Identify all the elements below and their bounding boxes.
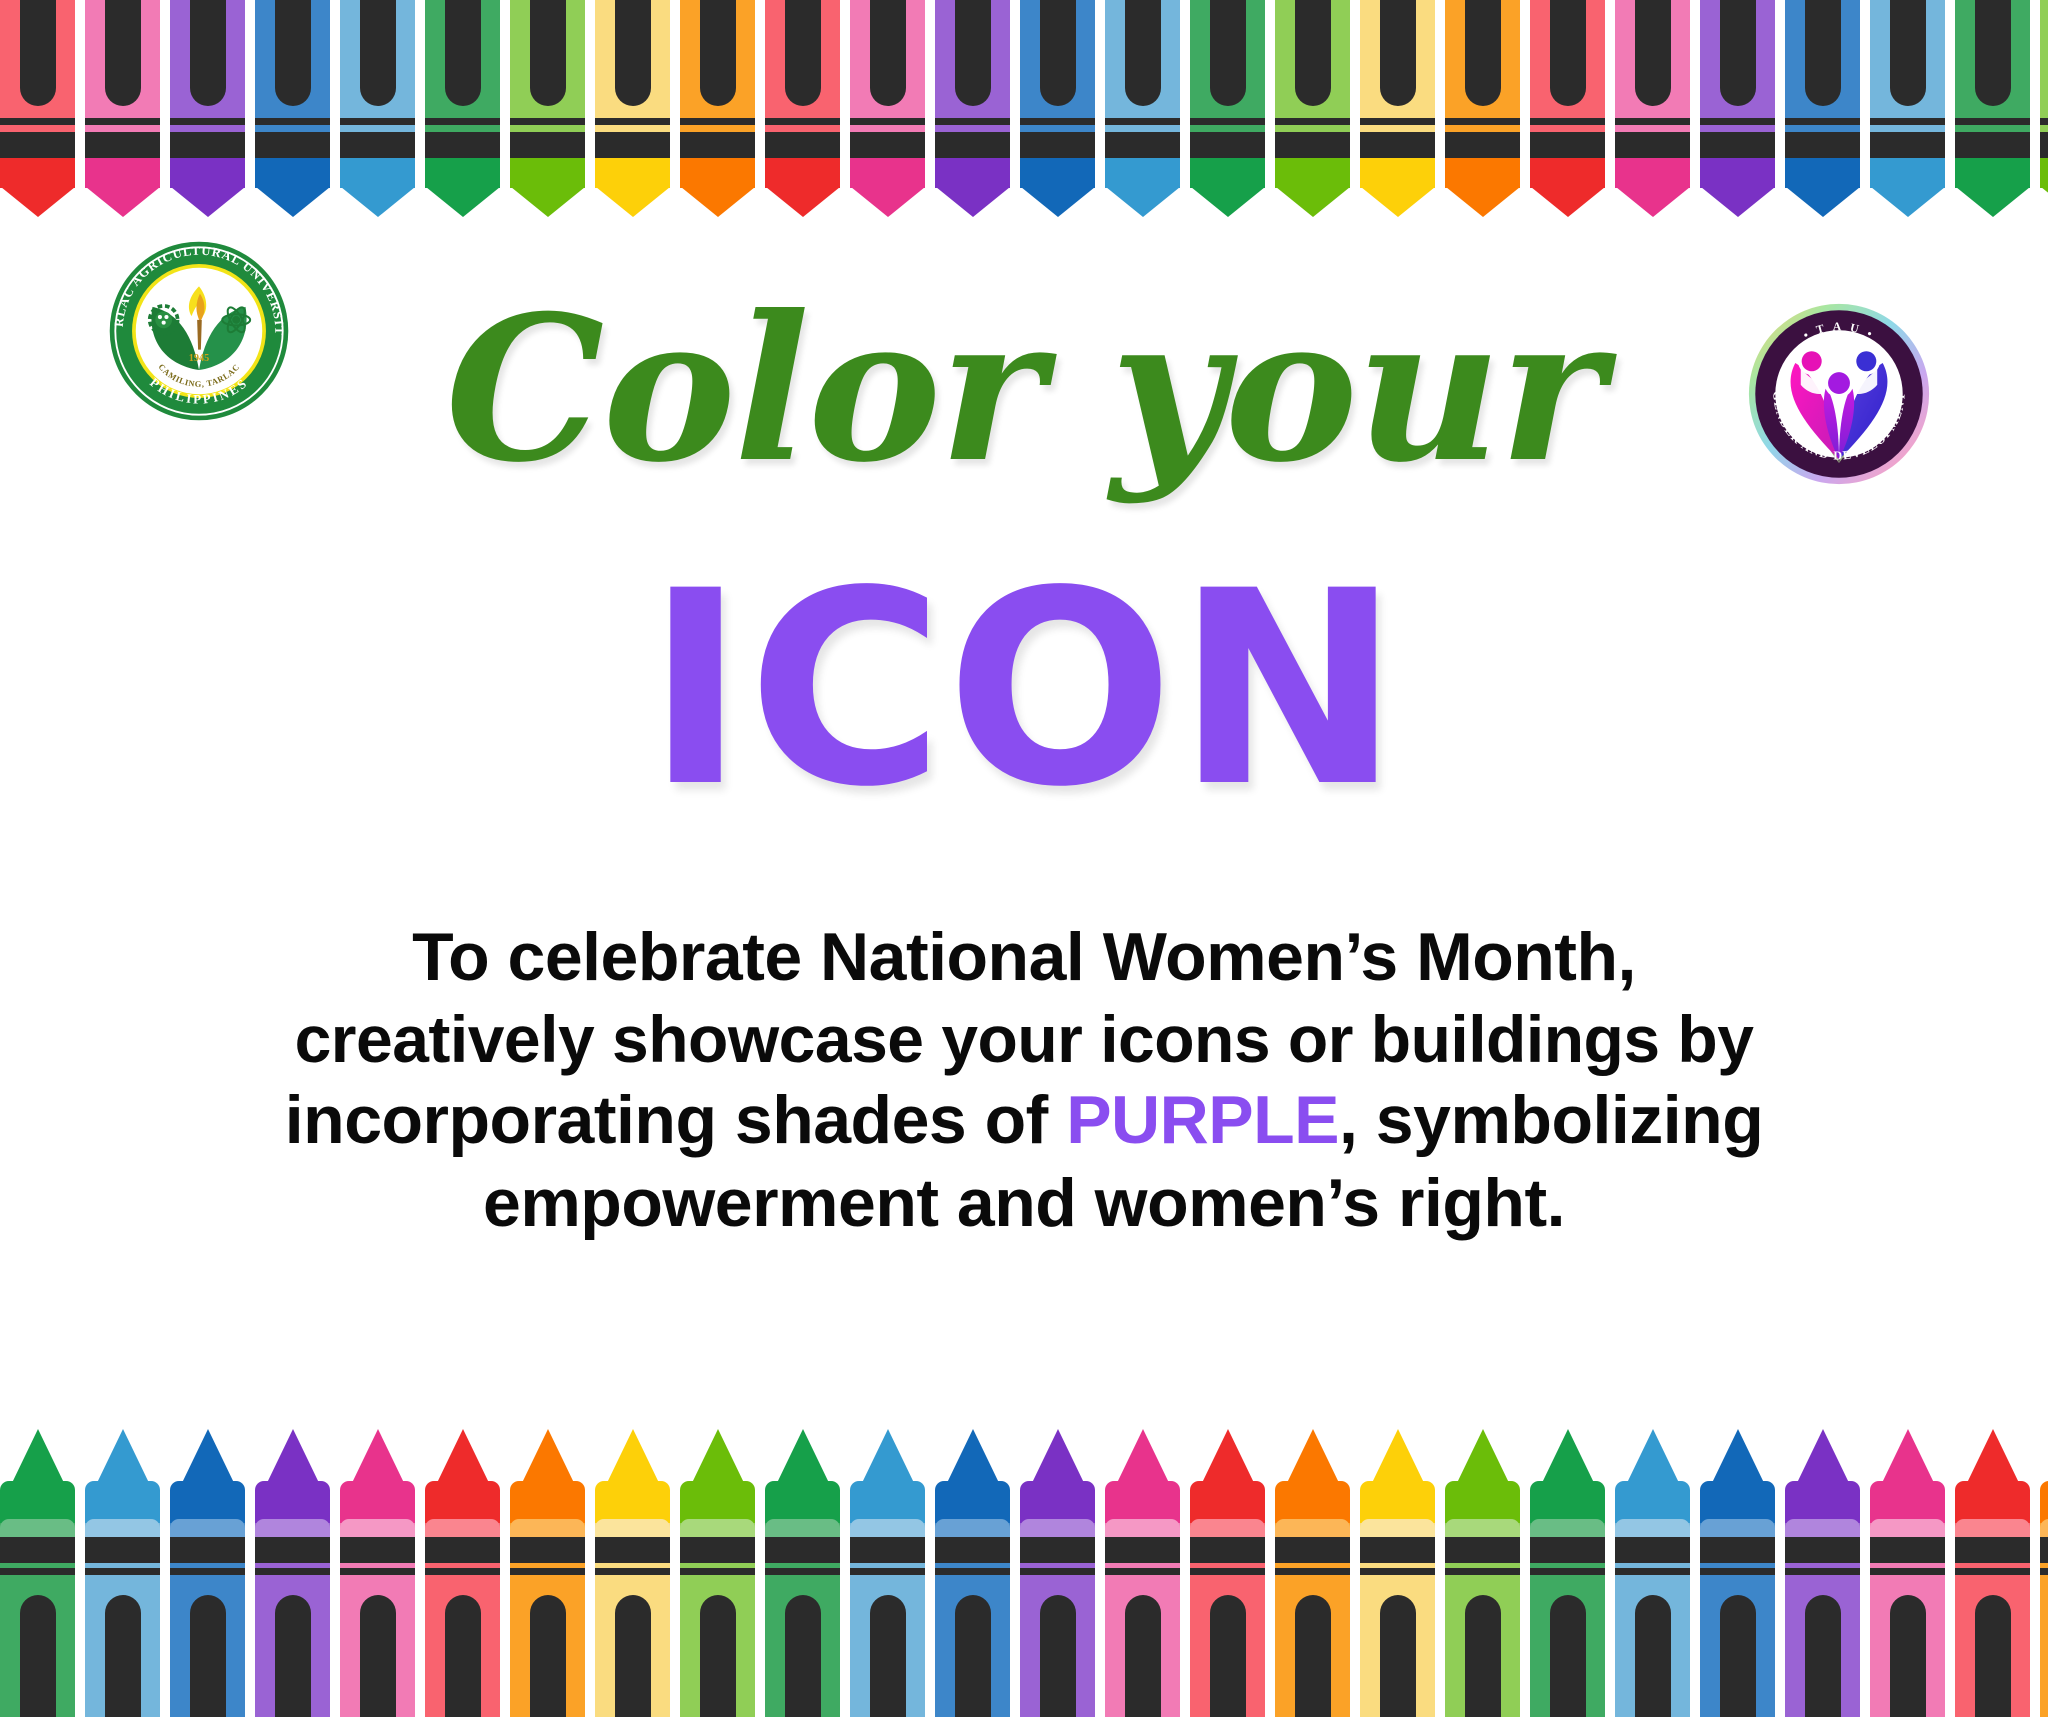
crayon-band-thick	[0, 1537, 75, 1563]
crayon-band-thick	[595, 132, 670, 158]
crayon-green	[0, 1429, 75, 1717]
crayon-label-oval	[1805, 0, 1841, 106]
crayon-band-thick	[425, 132, 500, 158]
crayon-cone-tip	[1531, 187, 1605, 217]
body-line-2: creatively showcase your icons or buildi…	[284, 999, 1764, 1080]
crayon-shoulder	[1360, 1519, 1435, 1539]
crayon-band-thin	[1445, 1568, 1520, 1575]
crayon-label-oval	[105, 1595, 141, 1717]
crayon-shoulder	[850, 1519, 925, 1539]
crayon-cone-tip	[1021, 187, 1095, 217]
crayon-cone-tip	[1956, 187, 2030, 217]
crayon-label-oval	[1635, 0, 1671, 106]
crayon-pink	[1870, 1429, 1945, 1717]
crayon-blue	[1700, 1429, 1775, 1717]
crayon-shoulder	[680, 1519, 755, 1539]
crayon-label-oval	[1890, 0, 1926, 106]
crayon-band-thin	[850, 1568, 925, 1575]
body-copy-block: To celebrate National Women’s Month, cre…	[284, 916, 1764, 1245]
crayon-blue	[255, 0, 330, 216]
crayon-band-thick	[255, 132, 330, 158]
crayon-band-thick	[1190, 1537, 1265, 1563]
crayon-yellow	[1360, 1429, 1435, 1717]
crayon-band-thick	[170, 1537, 245, 1563]
crayon-pink	[340, 1429, 415, 1717]
crayon-shoulder	[1530, 1519, 1605, 1539]
crayon-band-thick	[595, 1537, 670, 1563]
crayon-band-thick	[1955, 132, 2030, 158]
crayon-tip-block	[595, 158, 670, 188]
poster-canvas: TARLAC AGRICULTURAL UNIVERSITY PHILIPPIN…	[0, 0, 2048, 1717]
crayon-cone-tip	[946, 1429, 1000, 1485]
crayon-border-top	[0, 0, 2048, 216]
crayon-tip-block	[1275, 158, 1350, 188]
crayon-lightblue	[85, 1429, 160, 1717]
crayon-band-thin	[1445, 118, 1520, 125]
crayon-band-thin	[1870, 118, 1945, 125]
crayon-tip-block	[255, 158, 330, 188]
crayon-label-oval	[955, 1595, 991, 1717]
crayon-purple	[1785, 1429, 1860, 1717]
crayon-purple	[1700, 0, 1775, 216]
crayon-band-thick	[935, 1537, 1010, 1563]
crayon-band-thin	[680, 1568, 755, 1575]
crayon-cone-tip	[426, 187, 500, 217]
crayon-label-oval	[1720, 0, 1756, 106]
crayon-band-thin	[935, 1568, 1010, 1575]
crayon-tip-block	[170, 1481, 245, 1523]
crayon-band-thick	[1700, 1537, 1775, 1563]
crayon-band-thick	[1530, 132, 1605, 158]
crayon-label-oval	[20, 0, 56, 106]
crayon-band-thin	[1530, 118, 1605, 125]
crayon-label-oval	[700, 0, 736, 106]
crayon-band-thick	[510, 132, 585, 158]
crayon-band-thin	[0, 118, 75, 125]
crayon-cone-tip	[171, 187, 245, 217]
crayon-cone-tip	[2041, 187, 2048, 217]
crayon-band-thick	[850, 132, 925, 158]
crayon-band-thin	[255, 1568, 330, 1575]
crayon-cone-tip	[766, 187, 840, 217]
crayon-cone-tip	[861, 1429, 915, 1485]
crayon-shoulder	[255, 1519, 330, 1539]
crayon-tip-block	[935, 1481, 1010, 1523]
crayon-label-oval	[870, 0, 906, 106]
crayon-orange	[680, 0, 755, 216]
crayon-label-oval	[1465, 0, 1501, 106]
crayon-tip-block	[2040, 158, 2048, 188]
crayon-cone-tip	[1286, 1429, 1340, 1485]
crayon-cone-tip	[1796, 1429, 1850, 1485]
crayon-cone-tip	[851, 187, 925, 217]
crayon-band-thin	[1020, 118, 1095, 125]
crayon-coral	[425, 1429, 500, 1717]
crayon-yellow	[595, 1429, 670, 1717]
crayon-band-thin	[1700, 1568, 1775, 1575]
crayon-cone-tip	[1701, 187, 1775, 217]
crayon-tip-block	[1275, 1481, 1350, 1523]
crayon-band-thin	[170, 1568, 245, 1575]
crayon-tip-block	[2040, 1481, 2048, 1523]
crayon-tip-block	[0, 1481, 75, 1523]
crayon-pink	[1105, 1429, 1180, 1717]
crayon-label-oval	[360, 0, 396, 106]
crayon-coral	[1530, 0, 1605, 216]
crayon-band-thin	[595, 118, 670, 125]
body-line-1: To celebrate National Women’s Month,	[284, 916, 1764, 999]
crayon-band-thin	[1360, 1568, 1435, 1575]
crayon-label-oval	[530, 0, 566, 106]
crayon-tip-block	[595, 1481, 670, 1523]
crayon-cone-tip	[86, 187, 160, 217]
crayon-band-thick	[765, 132, 840, 158]
crayon-tip-block	[510, 158, 585, 188]
crayon-label-oval	[870, 1595, 906, 1717]
crayon-shoulder	[1700, 1519, 1775, 1539]
crayon-tip-block	[935, 158, 1010, 188]
crayon-band-thick	[1615, 132, 1690, 158]
crayon-cone-tip	[1626, 1429, 1680, 1485]
headline-display-word: ICON	[0, 556, 2048, 824]
crayon-lightblue	[1615, 1429, 1690, 1717]
crayon-label-oval	[1125, 0, 1161, 106]
crayon-band-thick	[1870, 132, 1945, 158]
crayon-label-oval	[1210, 0, 1246, 106]
crayon-label-oval	[615, 0, 651, 106]
crayon-band-thin	[1020, 1568, 1095, 1575]
crayon-tip-block	[1360, 1481, 1435, 1523]
crayon-border-bottom	[0, 1429, 2048, 1717]
crayon-cone-tip	[776, 1429, 830, 1485]
crayon-cone-tip	[1711, 1429, 1765, 1485]
crayon-tip-block	[1190, 158, 1265, 188]
crayon-purple	[935, 0, 1010, 216]
crayon-band-thick	[1360, 1537, 1435, 1563]
crayon-cone-tip	[11, 1429, 65, 1485]
crayon-tip-block	[1020, 1481, 1095, 1523]
crayon-tip-block	[1360, 158, 1435, 188]
crayon-tip-block	[85, 1481, 160, 1523]
crayon-pink	[1615, 0, 1690, 216]
crayon-label-oval	[275, 1595, 311, 1717]
crayon-lightgreen	[1445, 1429, 1520, 1717]
crayon-shoulder	[1870, 1519, 1945, 1539]
crayon-label-oval	[700, 1595, 736, 1717]
crayon-tip-block	[1020, 158, 1095, 188]
crayon-tip-block	[1190, 1481, 1265, 1523]
crayon-band-thick	[340, 1537, 415, 1563]
crayon-label-oval	[1720, 1595, 1756, 1717]
crayon-cone-tip	[181, 1429, 235, 1485]
crayon-lightgreen	[2040, 0, 2048, 216]
headline-script-line: Color your	[0, 290, 2048, 490]
crayon-tip-block	[1530, 158, 1605, 188]
crayon-cone-tip	[1191, 187, 1265, 217]
crayon-shoulder	[1190, 1519, 1265, 1539]
crayon-blue	[1785, 0, 1860, 216]
crayon-tip-block	[680, 158, 755, 188]
seal-year-text: 1945	[189, 353, 209, 364]
crayon-band-thin	[0, 1568, 75, 1575]
crayon-band-thin	[765, 118, 840, 125]
crayon-label-oval	[1295, 0, 1331, 106]
crayon-cone-tip	[96, 1429, 150, 1485]
crayon-band-thick	[1785, 132, 1860, 158]
crayon-tip-block	[1105, 158, 1180, 188]
crayon-tip-block	[680, 1481, 755, 1523]
crayon-band-thin	[1530, 1568, 1605, 1575]
crayon-cone-tip	[1446, 187, 1520, 217]
crayon-cone-tip	[936, 187, 1010, 217]
crayon-shoulder	[340, 1519, 415, 1539]
crayon-band-thick	[510, 1537, 585, 1563]
crayon-tip-block	[765, 158, 840, 188]
crayon-coral	[1955, 1429, 2030, 1717]
crayon-band-thick	[1105, 1537, 1180, 1563]
crayon-tip-block	[1785, 158, 1860, 188]
crayon-cone-tip	[1871, 187, 1945, 217]
crayon-band-thick	[1700, 132, 1775, 158]
crayon-cone-tip	[521, 1429, 575, 1485]
crayon-label-oval	[955, 0, 991, 106]
crayon-band-thin	[1700, 118, 1775, 125]
body-line-4: empowerment and women’s right.	[284, 1162, 1764, 1245]
crayon-band-thin	[765, 1568, 840, 1575]
crayon-tip-block	[765, 1481, 840, 1523]
crayon-shoulder	[85, 1519, 160, 1539]
crayon-band-thin	[1785, 118, 1860, 125]
crayon-cone-tip	[1276, 187, 1350, 217]
crayon-shoulder	[1445, 1519, 1520, 1539]
crayon-tip-block	[85, 158, 160, 188]
crayon-shoulder	[1615, 1519, 1690, 1539]
crayon-cone-tip	[1, 187, 75, 217]
crayon-band-thin	[1360, 118, 1435, 125]
crayon-cone-tip	[1371, 1429, 1425, 1485]
crayon-band-thick	[1530, 1537, 1605, 1563]
crayon-label-oval	[1890, 1595, 1926, 1717]
crayon-lightgreen	[680, 1429, 755, 1717]
crayon-cone-tip	[596, 187, 670, 217]
crayon-band-thin	[85, 118, 160, 125]
tarlac-agricultural-university-seal-icon: TARLAC AGRICULTURAL UNIVERSITY PHILIPPIN…	[106, 238, 292, 424]
crayon-band-thick	[1615, 1537, 1690, 1563]
crayon-cone-tip	[681, 187, 755, 217]
crayon-tip-block	[1700, 158, 1775, 188]
crayon-band-thick	[680, 132, 755, 158]
crayon-label-oval	[1380, 1595, 1416, 1717]
crayon-cone-tip	[1201, 1429, 1255, 1485]
crayon-band-thin	[1105, 118, 1180, 125]
crayon-band-thick	[425, 1537, 500, 1563]
crayon-band-thin	[1275, 1568, 1350, 1575]
crayon-band-thick	[1190, 132, 1265, 158]
crayon-blue	[170, 1429, 245, 1717]
crayon-cone-tip	[256, 187, 330, 217]
crayon-shoulder	[1275, 1519, 1350, 1539]
crayon-band-thin	[2040, 118, 2048, 125]
crayon-tip-block	[1870, 1481, 1945, 1523]
crayon-band-thick	[1445, 1537, 1520, 1563]
crayon-label-oval	[1975, 0, 2011, 106]
crayon-green	[765, 1429, 840, 1717]
crayon-band-thin	[425, 1568, 500, 1575]
crayon-pink	[85, 0, 160, 216]
crayon-band-thick	[85, 132, 160, 158]
crayon-band-thick	[0, 132, 75, 158]
crayon-shoulder	[935, 1519, 1010, 1539]
crayon-label-oval	[1380, 0, 1416, 106]
crayon-band-thick	[1020, 132, 1095, 158]
crayon-tip-block	[1615, 158, 1690, 188]
crayon-label-oval	[1040, 1595, 1076, 1717]
crayon-label-oval	[190, 0, 226, 106]
crayon-band-thick	[765, 1537, 840, 1563]
crayon-orange	[1275, 1429, 1350, 1717]
purple-keyword: PURPLE	[1066, 1082, 1339, 1158]
crayon-tip-block	[850, 1481, 925, 1523]
crayon-label-oval	[1550, 1595, 1586, 1717]
crayon-label-oval	[1550, 0, 1586, 106]
crayon-label-oval	[1295, 1595, 1331, 1717]
crayon-band-thick	[85, 1537, 160, 1563]
crayon-band-thin	[850, 118, 925, 125]
crayon-coral	[1190, 1429, 1265, 1717]
crayon-tip-block	[0, 158, 75, 188]
crayon-cone-tip	[266, 1429, 320, 1485]
crayon-orange	[510, 1429, 585, 1717]
crayon-blue	[935, 1429, 1010, 1717]
crayon-label-oval	[1975, 1595, 2011, 1717]
crayon-label-oval	[615, 1595, 651, 1717]
crayon-green	[1190, 0, 1265, 216]
crayon-purple	[255, 1429, 330, 1717]
crayon-band-thin	[1190, 1568, 1265, 1575]
crayon-tip-block	[255, 1481, 330, 1523]
crayon-cone-tip	[351, 1429, 405, 1485]
crayon-band-thick	[1785, 1537, 1860, 1563]
crayon-shoulder	[425, 1519, 500, 1539]
crayon-cone-tip	[1031, 1429, 1085, 1485]
crayon-label-oval	[1635, 1595, 1671, 1717]
crayon-band-thick	[935, 132, 1010, 158]
crayon-shoulder	[1955, 1519, 2030, 1539]
crayon-lightblue	[850, 1429, 925, 1717]
crayon-band-thin	[340, 118, 415, 125]
crayon-lightgreen	[510, 0, 585, 216]
crayon-band-thick	[1105, 132, 1180, 158]
crayon-band-thin	[255, 118, 330, 125]
crayon-band-thin	[595, 1568, 670, 1575]
crayon-green	[425, 0, 500, 216]
crayon-band-thin	[510, 1568, 585, 1575]
crayon-label-oval	[360, 1595, 396, 1717]
crayon-band-thin	[935, 118, 1010, 125]
crayon-band-thin	[170, 118, 245, 125]
crayon-label-oval	[785, 0, 821, 106]
crayon-lightblue	[1105, 0, 1180, 216]
crayon-label-oval	[1125, 1595, 1161, 1717]
crayon-band-thick	[1275, 132, 1350, 158]
body-line-3-suffix: , symbolizing	[1339, 1082, 1763, 1158]
crayon-cone-tip	[341, 187, 415, 217]
crayon-purple	[170, 0, 245, 216]
crayon-yellow	[1360, 0, 1435, 216]
crayon-tip-block	[850, 158, 925, 188]
crayon-band-thick	[2040, 132, 2048, 158]
crayon-band-thin	[340, 1568, 415, 1575]
crayon-label-oval	[530, 1595, 566, 1717]
crayon-orange	[2040, 1429, 2048, 1717]
crayon-shoulder	[2040, 1519, 2048, 1539]
crayon-band-thick	[2040, 1537, 2048, 1563]
crayon-tip-block	[1955, 158, 2030, 188]
crayon-tip-block	[340, 158, 415, 188]
crayon-cone-tip	[1786, 187, 1860, 217]
crayon-label-oval	[1465, 1595, 1501, 1717]
crayon-green	[1530, 1429, 1605, 1717]
crayon-label-oval	[1040, 0, 1076, 106]
crayon-shoulder	[595, 1519, 670, 1539]
crayon-shoulder	[0, 1519, 75, 1539]
crayon-tip-block	[1870, 158, 1945, 188]
crayon-label-oval	[445, 1595, 481, 1717]
crayon-band-thin	[2040, 1568, 2048, 1575]
crayon-yellow	[595, 0, 670, 216]
crayon-cone-tip	[1456, 1429, 1510, 1485]
crayon-tip-block	[170, 158, 245, 188]
crayon-tip-block	[425, 158, 500, 188]
crayon-tip-block	[1445, 158, 1520, 188]
crayon-label-oval	[1805, 1595, 1841, 1717]
crayon-band-thin	[510, 118, 585, 125]
crayon-label-oval	[20, 1595, 56, 1717]
crayon-label-oval	[445, 0, 481, 106]
crayon-label-oval	[1210, 1595, 1246, 1717]
crayon-band-thick	[340, 132, 415, 158]
crayon-cone-tip	[1616, 187, 1690, 217]
crayon-shoulder	[510, 1519, 585, 1539]
crayon-tip-block	[340, 1481, 415, 1523]
crayon-shoulder	[1020, 1519, 1095, 1539]
crayon-band-thick	[170, 132, 245, 158]
crayon-band-thick	[1955, 1537, 2030, 1563]
crayon-band-thin	[1615, 118, 1690, 125]
crayon-cone-tip	[1881, 1429, 1935, 1485]
crayon-tip-block	[1530, 1481, 1605, 1523]
crayon-band-thin	[1785, 1568, 1860, 1575]
crayon-tip-block	[510, 1481, 585, 1523]
crayon-tip-block	[1955, 1481, 2030, 1523]
crayon-coral	[765, 0, 840, 216]
crayon-label-oval	[105, 0, 141, 106]
crayon-shoulder	[1105, 1519, 1180, 1539]
crayon-cone-tip	[1361, 187, 1435, 217]
body-line-3-prefix: incorporating shades of	[285, 1082, 1066, 1158]
crayon-label-oval	[275, 0, 311, 106]
crayon-tip-block	[1785, 1481, 1860, 1523]
crayon-band-thin	[85, 1568, 160, 1575]
crayon-band-thin	[1105, 1568, 1180, 1575]
crayon-shoulder	[170, 1519, 245, 1539]
crayon-band-thick	[680, 1537, 755, 1563]
crayon-band-thin	[425, 118, 500, 125]
crayon-band-thin	[680, 118, 755, 125]
crayon-band-thick	[255, 1537, 330, 1563]
crayon-tip-block	[1615, 1481, 1690, 1523]
crayon-band-thin	[1870, 1568, 1945, 1575]
